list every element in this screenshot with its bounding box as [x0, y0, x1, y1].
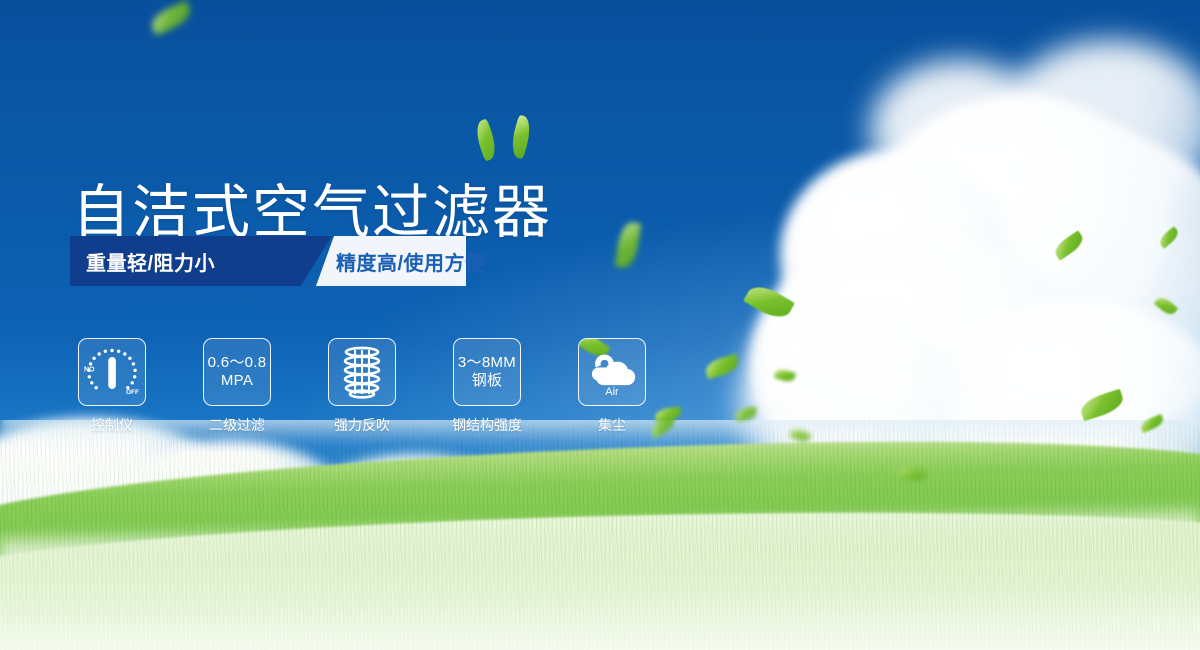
subtitle-right-text: 精度高/使用方便	[336, 236, 486, 286]
banner-content: 自洁式空气过滤器 重量轻/阻力小 精度高/使用方便	[0, 0, 1200, 650]
gauge-dial-icon: NO OFF	[82, 344, 142, 400]
steel-material: 钢板	[458, 372, 516, 390]
feature-item-pulse-jet[interactable]: 强力反吹	[328, 338, 396, 435]
subtitle-left-text: 重量轻/阻力小	[86, 236, 215, 286]
feature-icon-box: 3～8MM 钢板	[453, 338, 521, 406]
gauge-off-label: OFF	[126, 389, 139, 396]
product-hero-banner: 自洁式空气过滤器 重量轻/阻力小 精度高/使用方便	[0, 0, 1200, 650]
pressure-value: 0.6～0.8	[208, 354, 267, 371]
pressure-unit: MPA	[208, 372, 267, 390]
feature-icon-box	[328, 338, 396, 406]
cloud-air-icon: Air	[583, 346, 641, 398]
feature-item-dust-collection[interactable]: Air 集尘	[578, 338, 646, 435]
feature-label: 集尘	[598, 415, 626, 435]
feature-item-controller[interactable]: NO OFF 控制仪	[78, 338, 146, 435]
feature-icon-box: Air	[578, 338, 646, 406]
filter-cartridge-icon	[336, 344, 388, 400]
sprout-leaf-left	[472, 118, 501, 161]
feature-item-secondary-filtration[interactable]: 0.6～0.8 MPA 二级过滤	[203, 338, 271, 435]
steel-plate-text-icon: 3～8MM 钢板	[458, 354, 516, 389]
pressure-text-icon: 0.6～0.8 MPA	[208, 354, 267, 389]
feature-label: 强力反吹	[334, 415, 390, 435]
feature-label: 控制仪	[91, 415, 133, 435]
feature-list: NO OFF 控制仪 0.6～0.8 MPA 二级过滤	[78, 338, 646, 435]
gauge-on-label: NO	[84, 367, 95, 374]
page-title: 自洁式空气过滤器	[72, 184, 552, 242]
feature-icon-box: 0.6～0.8 MPA	[203, 338, 271, 406]
steel-thickness: 3～8MM	[458, 354, 516, 371]
feature-label: 钢结构强度	[452, 415, 522, 435]
air-label: Air	[605, 386, 619, 398]
sprout-leaf-right	[508, 115, 535, 160]
feature-label: 二级过滤	[209, 415, 265, 435]
subtitle-bar: 重量轻/阻力小 精度高/使用方便	[70, 236, 466, 286]
feature-icon-box: NO OFF	[78, 338, 146, 406]
feature-item-steel-strength[interactable]: 3～8MM 钢板 钢结构强度	[453, 338, 521, 435]
